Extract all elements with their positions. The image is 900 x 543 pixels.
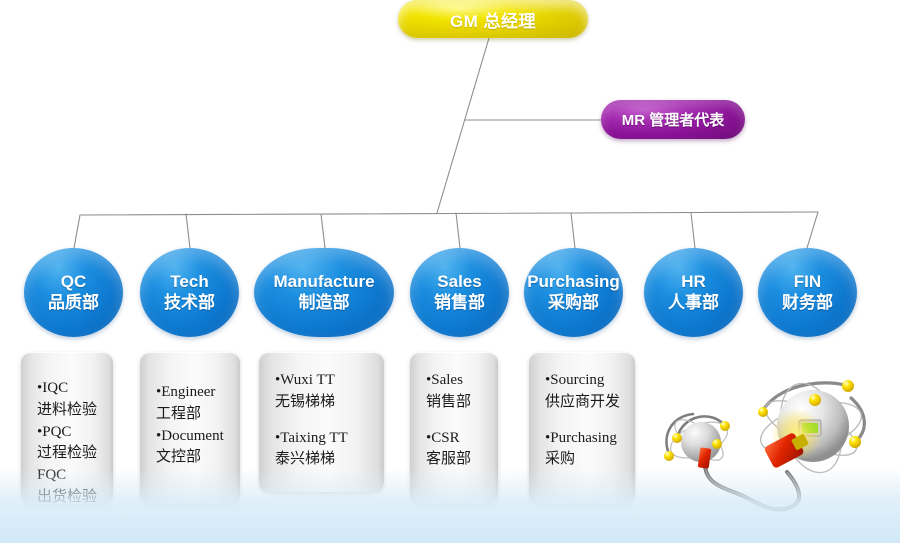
- node-dept-manufacture-en: Manufacture: [273, 272, 374, 292]
- node-mr[interactable]: MR 管理者代表: [601, 100, 745, 139]
- detail-line: 无锡梯梯: [259, 392, 384, 414]
- node-dept-purchasing-cn: 采购部: [548, 293, 599, 313]
- node-dept-qc-cn: 品质部: [48, 293, 99, 313]
- node-dept-hr[interactable]: HR 人事部: [644, 248, 743, 337]
- node-dept-purchasing[interactable]: Purchasing 采购部: [524, 248, 623, 337]
- node-dept-tech-cn: 技术部: [164, 293, 215, 313]
- detail-line: •Engineer: [140, 382, 240, 404]
- node-gm[interactable]: GM 总经理: [398, 0, 588, 38]
- detail-line: 过程检验: [21, 443, 113, 465]
- node-dept-fin-en: FIN: [794, 272, 821, 292]
- node-dept-hr-cn: 人事部: [668, 293, 719, 313]
- detail-line-spacer: [259, 414, 384, 428]
- node-dept-sales-en: Sales: [437, 272, 481, 292]
- detail-line: •IQC: [21, 378, 113, 400]
- node-gm-label: GM 总经理: [450, 7, 536, 32]
- node-dept-manufacture-cn: 制造部: [299, 293, 350, 313]
- org-chart-canvas: GM 总经理 MR 管理者代表 QC 品质部 Tech 技术部 Manufact…: [0, 0, 900, 543]
- node-dept-manufacture[interactable]: Manufacture 制造部: [254, 248, 394, 337]
- node-dept-fin[interactable]: FIN 财务部: [758, 248, 857, 337]
- detail-line: •Taixing TT: [259, 428, 384, 450]
- detail-card-manufacture: •Wuxi TT 无锡梯梯 •Taixing TT 泰兴梯梯: [259, 352, 384, 492]
- node-dept-fin-cn: 财务部: [782, 293, 833, 313]
- node-dept-hr-en: HR: [681, 272, 706, 292]
- node-mr-label: MR 管理者代表: [622, 109, 725, 130]
- node-dept-sales[interactable]: Sales 销售部: [410, 248, 509, 337]
- detail-card-purchasing: •Sourcing 供应商开发 •Purchasing 采购: [529, 352, 635, 504]
- detail-line: 泰兴梯梯: [259, 449, 384, 471]
- node-dept-tech[interactable]: Tech 技术部: [140, 248, 239, 337]
- detail-card-sales: •Sales 销售部 •CSR 客服部: [410, 352, 498, 504]
- detail-line: •Purchasing: [529, 428, 635, 450]
- detail-line: 出货检验: [21, 487, 113, 509]
- detail-line: 文控部: [140, 447, 240, 469]
- detail-line: 采购: [529, 449, 635, 471]
- node-dept-sales-cn: 销售部: [434, 293, 485, 313]
- detail-line: FQC: [21, 465, 113, 487]
- detail-line: •PQC: [21, 422, 113, 444]
- detail-line: 客服部: [410, 449, 498, 471]
- detail-line: •Wuxi TT: [259, 370, 384, 392]
- network-illustration-icon: [655, 368, 895, 533]
- detail-line-spacer: [410, 414, 498, 428]
- node-dept-tech-en: Tech: [170, 272, 208, 292]
- node-dept-purchasing-en: Purchasing: [527, 272, 620, 292]
- detail-card-tech: •Engineer 工程部 •Document 文控部: [140, 352, 240, 504]
- detail-line: 供应商开发: [529, 392, 635, 414]
- node-dept-qc[interactable]: QC 品质部: [24, 248, 123, 337]
- detail-line: •Sourcing: [529, 370, 635, 392]
- detail-line: •Document: [140, 426, 240, 448]
- detail-line: 工程部: [140, 404, 240, 426]
- node-dept-qc-en: QC: [61, 272, 87, 292]
- detail-line: 进料检验: [21, 400, 113, 422]
- detail-line: •CSR: [410, 428, 498, 450]
- detail-card-qc: •IQC 进料检验 •PQC 过程检验 FQC 出货检验: [21, 352, 113, 504]
- detail-line: •Sales: [410, 370, 498, 392]
- detail-line-spacer: [529, 414, 635, 428]
- detail-line: 销售部: [410, 392, 498, 414]
